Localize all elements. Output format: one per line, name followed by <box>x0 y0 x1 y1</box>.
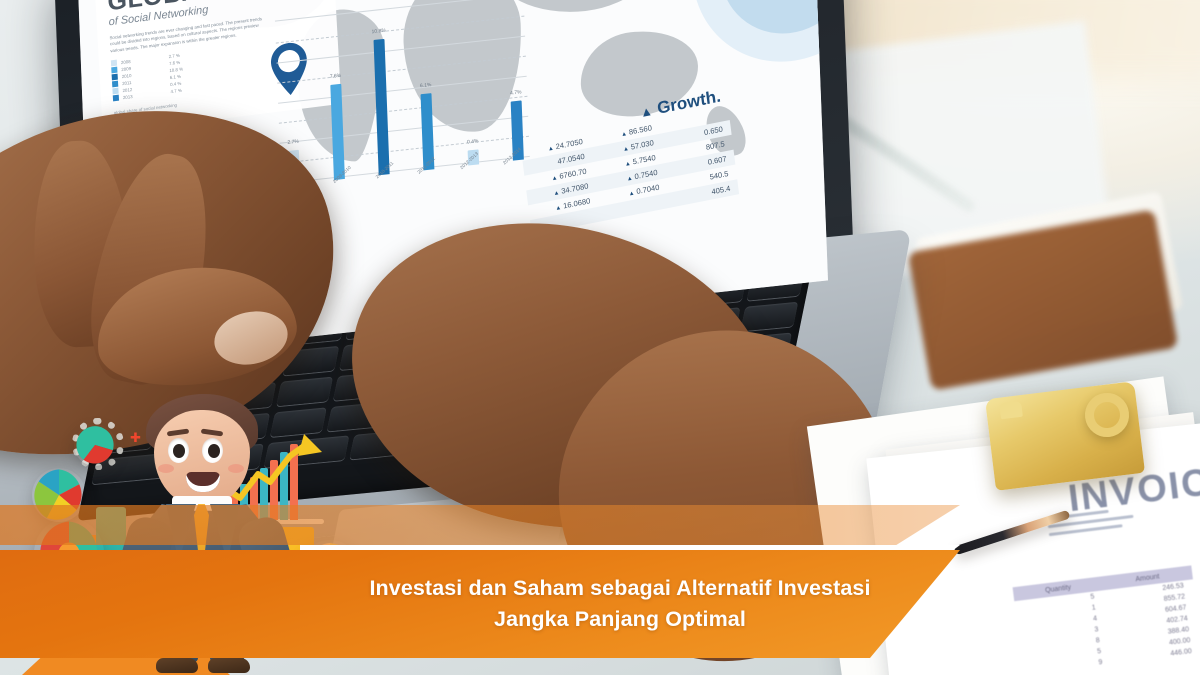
legend-swatch <box>111 60 117 67</box>
growth-value: 0.650 <box>703 124 723 137</box>
growth-value: 0.7040 <box>636 183 660 196</box>
mascot-cheek-right <box>228 464 244 473</box>
legend-swatch <box>111 67 117 74</box>
legend-value: 2.7 % <box>168 52 179 58</box>
growth-value: 0.607 <box>707 154 727 167</box>
legend-swatch <box>113 95 119 102</box>
legend-value: 4.7 % <box>170 87 181 93</box>
growth-value: 5.7540 <box>632 153 656 166</box>
mascot-pupil-left <box>173 444 185 458</box>
mascot-shoe-right <box>208 658 250 673</box>
bar <box>374 39 390 175</box>
mascot-pupil-right <box>208 444 220 458</box>
triangle-up-icon: ▲ <box>639 103 654 120</box>
legend-value: 7.6 % <box>169 59 180 65</box>
legend-swatch <box>112 81 118 88</box>
banner-upper-band <box>0 505 960 545</box>
growth-value: 405.4 <box>711 184 731 197</box>
bar-value-label: 10.8% <box>372 28 386 36</box>
bar-value-label: 6.1% <box>420 82 432 89</box>
screenshot-canvas: 4.7% 0.4% GLOBAL SHARE of Social Network… <box>0 0 1200 675</box>
legend-year: 2013 <box>123 92 143 100</box>
mascot-cheek-left <box>158 464 174 473</box>
clip-nub <box>999 401 1023 420</box>
bar-value-label: 4.7% <box>510 89 522 96</box>
keyboard-key[interactable] <box>741 302 798 332</box>
growth-value: 540.5 <box>709 169 729 182</box>
banner-title-line1: Investasi dan Saham sebagai Alternatif I… <box>369 573 870 604</box>
bar-value-label: 2.7% <box>287 139 299 146</box>
growth-value: 86.560 <box>628 123 652 136</box>
legend-swatch <box>112 88 118 95</box>
bar-column: 10.8% <box>374 39 390 175</box>
bar-value-label: 0.4% <box>467 138 479 145</box>
legend-value: 0.4 % <box>170 80 181 86</box>
mascot-shoe-left <box>156 658 198 673</box>
banner-title: Investasi dan Saham sebagai Alternatif I… <box>300 556 940 652</box>
growth-value: 0.7540 <box>634 168 658 181</box>
banner-divider <box>300 545 960 550</box>
legend-swatch <box>112 74 118 81</box>
legend-value: 6.1 % <box>170 73 181 79</box>
growth-value: 57.030 <box>630 138 654 151</box>
bar-value-label: 7.6% <box>330 73 342 80</box>
bar-series: 2.7% 7.6% 10.8% 6.1% <box>283 9 523 185</box>
bar-column: 7.6% <box>330 84 345 180</box>
growth-value: 807.5 <box>705 139 725 152</box>
bar <box>330 84 345 180</box>
banner-title-line2: Jangka Panjang Optimal <box>494 604 746 635</box>
